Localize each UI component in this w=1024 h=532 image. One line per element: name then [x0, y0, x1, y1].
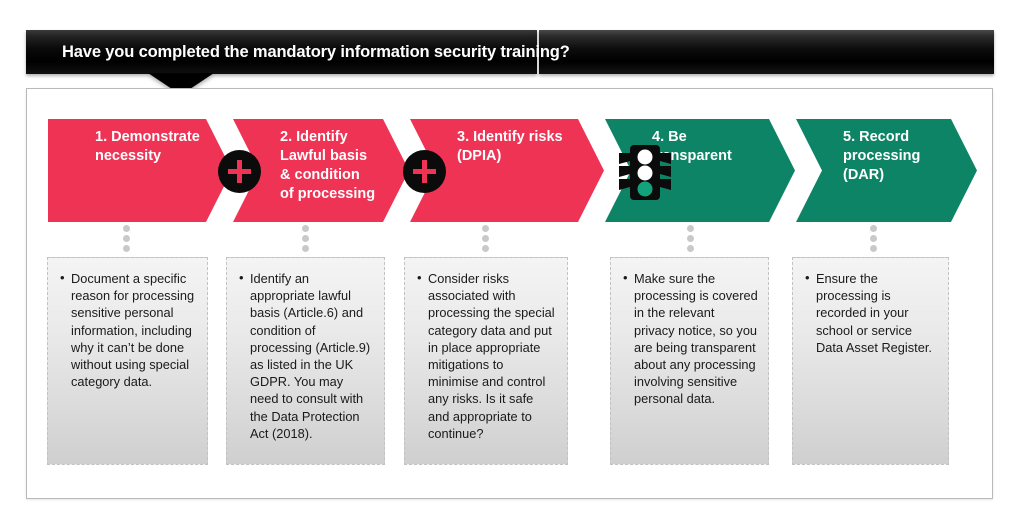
- detail-bullet: Make sure the processing is covered in t…: [634, 270, 758, 408]
- traffic-light-icon: [619, 141, 671, 203]
- process-step-2-label: 2. Identify Lawful basis & condition of …: [280, 128, 379, 204]
- content-frame: 1. Demonstrate necessity 2. Identify Law…: [26, 88, 993, 499]
- detail-box-3: Consider risks associated with processin…: [404, 257, 568, 465]
- plus-icon: [403, 150, 446, 193]
- detail-box-4: Make sure the processing is covered in t…: [610, 257, 769, 465]
- detail-bullet: Identify an appropriate lawful basis (Ar…: [250, 270, 374, 442]
- detail-bullet: Ensure the processing is recorded in you…: [816, 270, 938, 356]
- process-step-1[interactable]: 1. Demonstrate necessity: [48, 119, 232, 222]
- process-step-1-label: 1. Demonstrate necessity: [95, 128, 202, 166]
- banner-right-segment: [539, 30, 994, 74]
- connector-dots-5: [870, 225, 877, 251]
- process-step-5[interactable]: 5. Record processing (DAR): [796, 119, 977, 222]
- banner-title: Have you completed the mandatory informa…: [62, 30, 570, 74]
- banner-callout: Have you completed the mandatory informa…: [26, 30, 994, 74]
- connector-dots-2: [302, 225, 309, 251]
- detail-box-2: Identify an appropriate lawful basis (Ar…: [226, 257, 385, 465]
- connector-dots-1: [123, 225, 130, 251]
- plus-icon: [218, 150, 261, 193]
- detail-bullet: Consider risks associated with processin…: [428, 270, 557, 442]
- detail-box-1: Document a specific reason for processin…: [47, 257, 208, 465]
- process-chevron-row: 1. Demonstrate necessity 2. Identify Law…: [27, 89, 994, 239]
- connector-dots-4: [687, 225, 694, 251]
- process-step-5-label: 5. Record processing (DAR): [843, 128, 947, 185]
- slide-canvas: Have you completed the mandatory informa…: [0, 0, 1024, 532]
- connector-dots-3: [482, 225, 489, 251]
- detail-bullet: Document a specific reason for processin…: [71, 270, 197, 390]
- detail-box-5: Ensure the processing is recorded in you…: [792, 257, 949, 465]
- process-step-3-label: 3. Identify risks (DPIA): [457, 128, 574, 166]
